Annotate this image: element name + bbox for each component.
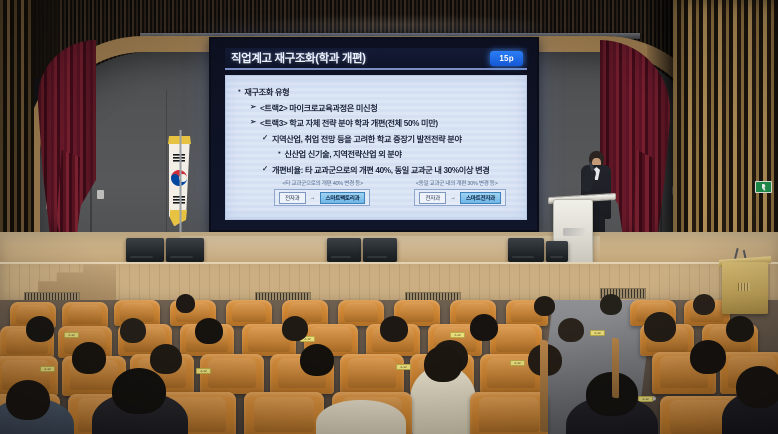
- seat-number-tag: A-12: [590, 330, 605, 336]
- seat-number-tag: A-12: [196, 368, 211, 374]
- stage-monitor-speaker: [546, 241, 568, 262]
- slide-bullet: ✓ 지역산업, 취업 전망 등을 고려한 학교 중장기 발전전략 분야: [262, 133, 516, 145]
- bullet-marker: ➢: [250, 102, 256, 112]
- bullet-marker: ▪: [238, 86, 240, 96]
- seat-number-tag: A-12: [450, 332, 465, 338]
- stage-monitor-speaker: [126, 238, 164, 262]
- seat-row-rail: [612, 337, 619, 398]
- seat-row-rail: [540, 339, 548, 433]
- audience-head: [726, 316, 754, 342]
- bullet-marker: ✓: [262, 164, 268, 174]
- bullet-text: <트랙3> 학교 자체 전략 분야 학과 개편(전체 50% 미만): [260, 117, 438, 129]
- stage-monitor-speaker: [166, 238, 204, 262]
- auditorium-seat[interactable]: [226, 300, 272, 326]
- seat-number-tag: A-12: [64, 332, 79, 338]
- auditorium-seat[interactable]: [62, 302, 108, 328]
- stage-monitor-speaker: [327, 238, 361, 262]
- slide-title: 직업계고 재구조화(학과 개편): [231, 50, 366, 66]
- audience-head: [300, 344, 334, 376]
- flow-from-box: 전자과: [279, 192, 306, 204]
- audience-head: [176, 294, 195, 313]
- audience-head: [736, 366, 778, 408]
- auditorium-seat[interactable]: [470, 392, 548, 434]
- slide-flow-row: 전자과 → 스마트팩토리과 전자과 → 스마트전자과: [256, 189, 524, 206]
- auditorium-seat[interactable]: [338, 300, 384, 326]
- flow-diagram: 전자과 → 스마트팩토리과: [274, 189, 370, 206]
- presentation-slide: 직업계고 재구조화(학과 개편) 15p ▪ 재구조화 유형 ➢ <트랙2> 마…: [211, 39, 537, 230]
- audience-head: [195, 318, 223, 344]
- running-person-icon: [762, 184, 766, 191]
- auditorium-seat[interactable]: [244, 392, 324, 434]
- stage-monitor-speaker: [363, 238, 397, 262]
- bullet-text: <트랙2> 마이크로교육과정은 미신청: [260, 102, 377, 114]
- slide-page-badge: 15p: [490, 51, 523, 66]
- seat-number-tag: A-12: [396, 364, 411, 370]
- flow-to-box: 스마트팩토리과: [320, 192, 366, 204]
- audience-head: [470, 314, 498, 341]
- seat-number-tag: A-12: [40, 366, 55, 372]
- audience-head: [600, 294, 622, 315]
- flow-from-box: 전자과: [419, 192, 446, 204]
- bullet-text: 재구조화 유형: [244, 86, 289, 98]
- bullet-marker: ▪: [278, 148, 280, 158]
- audience-head: [282, 316, 308, 341]
- auditorium-seat[interactable]: [200, 354, 264, 394]
- audience-head: [424, 346, 462, 382]
- audience-head: [112, 368, 166, 414]
- slide-bullet: ▪ 재구조화 유형: [238, 86, 516, 98]
- bullet-text: 개편비율: 타 교과군으로의 개편 40%, 동일 교과군 내 30%이상 변경: [272, 164, 490, 176]
- slide-note: <동일 교과군 내의 개편 30% 변경 등>: [416, 179, 498, 187]
- auditorium-seat[interactable]: [340, 354, 404, 394]
- flow-diagram: 전자과 → 스마트전자과: [414, 189, 506, 206]
- arrow-right-icon: →: [310, 195, 316, 201]
- audience-head: [72, 342, 106, 374]
- bullet-text: 신산업 신기술, 지역전략산업 외 분야: [284, 148, 401, 160]
- stage-monitor-speaker: [508, 238, 544, 262]
- slide-bullet: ✓ 개편비율: 타 교과군으로의 개편 40%, 동일 교과군 내 30%이상 …: [262, 164, 516, 176]
- slide-bullet: ➢ <트랙2> 마이크로교육과정은 미신청: [250, 102, 516, 114]
- slide-note-row: <타 교과군으로의 개편 40% 변경 등> <동일 교과군 내의 개편 30%…: [256, 179, 524, 187]
- emergency-exit-icon: [755, 181, 772, 193]
- audience-head: [6, 380, 50, 420]
- audience-head: [26, 316, 54, 342]
- bullet-text: 지역산업, 취업 전망 등을 고려한 학교 중장기 발전전략 분야: [272, 133, 462, 145]
- flow-to-box: 스마트전자과: [460, 192, 501, 204]
- audience-head: [380, 316, 408, 342]
- seat-number-tag: A-12: [510, 360, 525, 366]
- lectern-grille: [738, 283, 750, 291]
- audience-head: [690, 340, 726, 374]
- slide-bullet: ➢ <트랙3> 학교 자체 전략 분야 학과 개편(전체 50% 미만): [250, 117, 516, 129]
- audience-head: [534, 296, 555, 316]
- audience-head: [693, 294, 715, 315]
- auditorium-scene: 직업계고 재구조화(학과 개편) 15p ▪ 재구조화 유형 ➢ <트랙2> 마…: [0, 0, 778, 434]
- arrow-right-icon: →: [450, 195, 456, 201]
- slide-body: ▪ 재구조화 유형 ➢ <트랙2> 마이크로교육과정은 미신청 ➢ <트랙3> …: [225, 75, 527, 220]
- slide-bullet: ▪ 신산업 신기술, 지역전략산업 외 분야: [278, 148, 516, 160]
- podium-logo: [563, 228, 585, 236]
- audience-head: [558, 318, 584, 342]
- slide-note: <타 교과군으로의 개편 40% 변경 등>: [282, 179, 363, 187]
- bullet-marker: ➢: [250, 117, 256, 127]
- audience-head: [644, 312, 676, 342]
- bullet-marker: ✓: [262, 133, 268, 143]
- audience-head: [120, 318, 146, 343]
- audience-head: [150, 344, 182, 374]
